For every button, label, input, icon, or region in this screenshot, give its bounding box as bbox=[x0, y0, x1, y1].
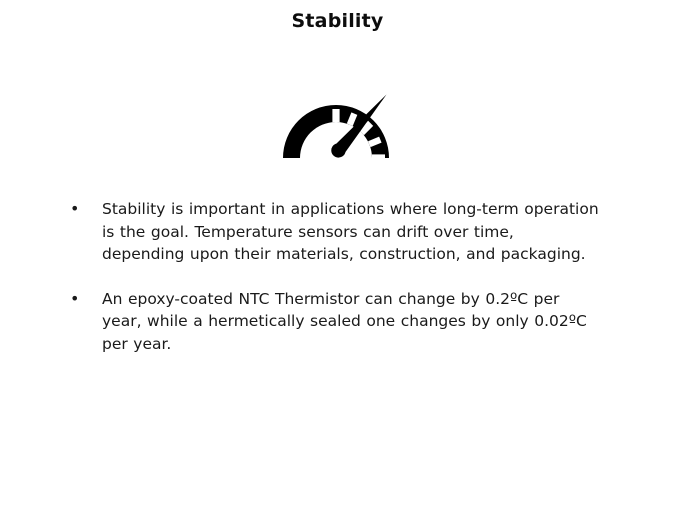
page-title: Stability bbox=[0, 10, 675, 32]
bullet-marker: • bbox=[66, 288, 102, 311]
bullet-text: An epoxy-coated NTC Thermistor can chang… bbox=[102, 288, 600, 356]
gauge-graphic bbox=[0, 74, 675, 166]
bullet-text: Stability is important in applications w… bbox=[102, 198, 600, 266]
speedometer-gauge-icon bbox=[265, 74, 411, 162]
bullet-marker: • bbox=[66, 198, 102, 221]
list-item: • Stability is important in applications… bbox=[66, 198, 611, 266]
bullet-list: • Stability is important in applications… bbox=[66, 198, 611, 355]
slide: Stability bbox=[0, 0, 675, 506]
list-item: • An epoxy-coated NTC Thermistor can cha… bbox=[66, 288, 611, 356]
